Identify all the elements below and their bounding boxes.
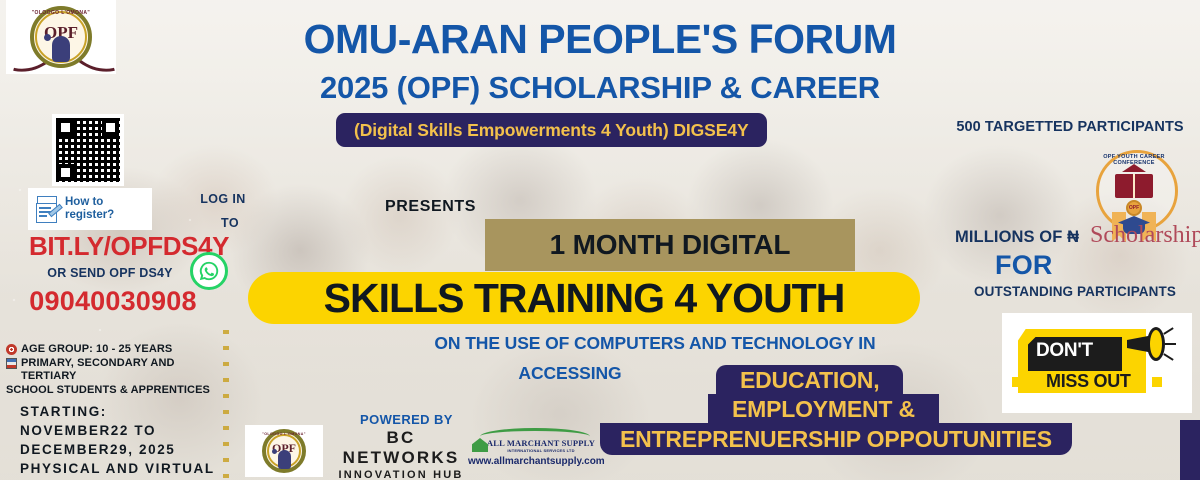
age-group-row: AGE GROUP: 10 - 25 YEARS <box>6 343 220 356</box>
or-send-label: OR SEND OPF DS4Y <box>10 266 210 280</box>
powered-by-label: POWERED BY <box>360 412 453 427</box>
for-label: FOR <box>995 250 1053 281</box>
page-title: OMU-ARAN PEOPLE'S FORUM <box>0 16 1200 63</box>
program-code-label: (Digital Skills Empowerments 4 Youth) DI… <box>354 120 749 141</box>
duration-label: 1 MONTH DIGITAL <box>550 229 791 261</box>
bc-networks-name: BC NETWORKS <box>326 428 476 468</box>
school-row: PRIMARY, SECONDARY AND TERTIARY <box>6 357 220 383</box>
headline-label: SKILLS TRAINING 4 YOUTH <box>324 275 845 322</box>
ams-subtitle: INTERNATIONAL SERVICES LTD <box>486 448 596 453</box>
megaphone-icon <box>1127 325 1171 365</box>
bc-networks-tagline: INNOVATION HUB <box>326 469 476 480</box>
login-instruction: LOG IN TO <box>186 192 260 230</box>
benefit-badge-entrepreneurship: ENTREPRENUERSHIP OPPOUTUNITIES <box>600 423 1072 455</box>
delivery-mode: PHYSICAL AND VIRTUAL <box>20 459 220 478</box>
dont-miss-out-line1: DON'T <box>1036 340 1093 362</box>
books-icon <box>6 358 17 369</box>
presents-label: PRESENTS <box>385 198 476 216</box>
event-banner: "OLOOGO L'OMONA" OPF How toregister? LOG… <box>0 0 1200 480</box>
start-date: NOVEMBER22 TO <box>20 421 220 440</box>
dont-miss-out-line2: MISS OUT <box>1046 371 1131 392</box>
ams-swoosh-decoration <box>480 428 590 445</box>
eligibility-info: AGE GROUP: 10 - 25 YEARS PRIMARY, SECOND… <box>6 343 220 478</box>
benefit-badge-education: EDUCATION, <box>716 365 903 395</box>
outstanding-participants-label: OUTSTANDING PARTICIPANTS <box>950 284 1200 299</box>
bc-networks-logo: BC NETWORKS INNOVATION HUB #DIGITAL SKIL… <box>326 428 476 480</box>
login-to-label: TO <box>200 216 260 230</box>
starting-label: STARTING: <box>20 402 220 421</box>
description-line1: ON THE USE OF COMPUTERS AND TECHNOLOGY I… <box>360 333 950 354</box>
benefit-badge-employment: EMPLOYMENT & <box>708 394 939 424</box>
program-code-badge: (Digital Skills Empowerments 4 Youth) DI… <box>336 113 767 147</box>
scholarship-label: Scholarship <box>1090 222 1200 249</box>
schools-line1: PRIMARY, SECONDARY AND TERTIARY <box>21 357 220 383</box>
how-to-register-card[interactable]: How toregister? <box>28 188 152 230</box>
end-date: DECEMBER29, 2025 <box>20 440 220 459</box>
benefit-label-3: ENTREPRENUERSHIP OPPOUTUNITIES <box>620 426 1052 453</box>
seal-medal-icon: OPF <box>1126 200 1142 216</box>
qr-code-icon[interactable] <box>56 118 120 182</box>
login-label: LOG IN <box>186 192 260 206</box>
dont-miss-out-card: DON'T MISS OUT <box>1002 313 1192 413</box>
all-marchant-supply-logo: ALL MARCHANT SUPPLY INTERNATIONAL SERVIC… <box>468 430 596 467</box>
benefit-label-2: EMPLOYMENT & <box>732 396 915 423</box>
navy-accent-strip <box>1180 420 1200 480</box>
how-to-register-label: How toregister? <box>65 196 114 222</box>
targetted-participants: 500 TARGETTED PARTICIPANTS <box>940 119 1200 135</box>
schools-line2: SCHOOL STUDENTS & APPRENTICES <box>6 384 220 397</box>
document-pen-icon <box>34 195 60 223</box>
millions-label: MILLIONS OF ₦ <box>955 228 1079 247</box>
opf-sponsor-logo: "OLOOGO L'OMONA" OPF <box>245 425 323 477</box>
opf-logo-motto-small: "OLOOGO L'OMONA" <box>262 432 306 436</box>
target-icon <box>6 344 17 355</box>
opf-seal-icon-small: "OLOOGO L'OMONA" OPF <box>262 429 306 473</box>
duration-banner: 1 MONTH DIGITAL <box>485 219 855 271</box>
contact-phone-number[interactable]: 09040030908 <box>8 286 218 317</box>
age-group-text: AGE GROUP: 10 - 25 YEARS <box>21 343 172 356</box>
seal-book-icon <box>1115 174 1153 198</box>
benefit-label-1: EDUCATION, <box>740 367 879 394</box>
gold-divider <box>223 330 229 480</box>
ams-website[interactable]: www.allmarchantsupply.com <box>468 456 596 467</box>
headline-banner: SKILLS TRAINING 4 YOUTH <box>248 272 920 324</box>
whatsapp-icon[interactable] <box>190 252 228 290</box>
qr-code-box[interactable] <box>52 114 124 186</box>
page-subtitle: 2025 (OPF) SCHOLARSHIP & CAREER <box>0 70 1200 106</box>
